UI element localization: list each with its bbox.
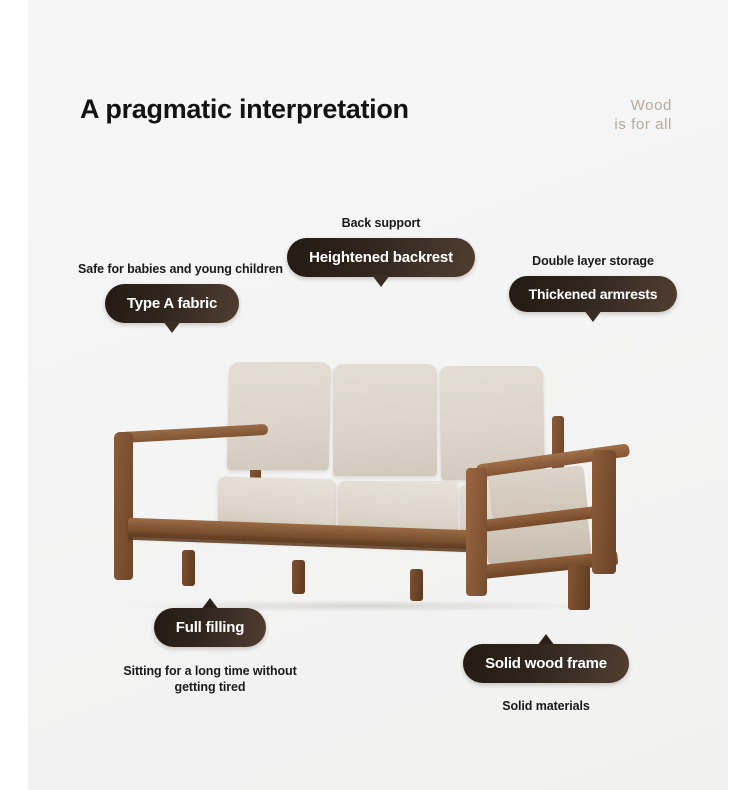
- callout-frame: Solid wood frame Solid materials: [452, 644, 640, 713]
- callout-storage-pill-wrap: Thickened armrests: [500, 276, 686, 312]
- callout-frame-caption: Solid materials: [452, 699, 640, 713]
- back-cushion-2: [333, 364, 437, 476]
- callout-filling-label[interactable]: Full filling: [154, 608, 266, 647]
- callout-storage-label[interactable]: Thickened armrests: [509, 276, 678, 312]
- right-arm-leg: [568, 566, 590, 610]
- page-title: A pragmatic interpretation: [80, 94, 409, 125]
- infographic-page: A pragmatic interpretation Wood is for a…: [0, 0, 750, 790]
- right-arm-front-post: [466, 468, 487, 596]
- callout-fabric-caption: Safe for babies and young children: [78, 262, 266, 276]
- callout-storage: Double layer storage Thickened armrests: [500, 254, 686, 312]
- callout-fabric-pointer-icon: [163, 321, 181, 333]
- callout-filling-pill-wrap: Full filling: [108, 608, 312, 647]
- callout-filling-caption: Sitting for a long time without getting …: [108, 663, 312, 695]
- callout-fabric-pill-wrap: Type A fabric: [78, 284, 266, 323]
- callout-filling: Full filling Sitting for a long time wit…: [108, 608, 312, 695]
- callout-fabric: Safe for babies and young children Type …: [78, 262, 266, 323]
- tagline-line-2: is for all: [614, 115, 672, 134]
- callout-storage-caption: Double layer storage: [500, 254, 686, 268]
- tagline-line-1: Wood: [614, 96, 672, 115]
- callout-back-support-caption: Back support: [288, 216, 474, 230]
- back-cushion-1: [227, 362, 331, 470]
- callout-back-support-label[interactable]: Heightened backrest: [287, 238, 475, 277]
- callout-back-support: Back support Heightened backrest: [288, 216, 474, 277]
- leg-3: [410, 569, 423, 601]
- callout-back-support-pill-wrap: Heightened backrest: [288, 238, 474, 277]
- leg-1: [182, 550, 195, 586]
- leg-2: [292, 560, 305, 594]
- brand-tagline: Wood is for all: [614, 96, 672, 134]
- sofa-product-image: [100, 350, 660, 610]
- right-arm-outer-post: [592, 450, 616, 574]
- callout-back-support-pointer-icon: [372, 275, 390, 287]
- callout-frame-label[interactable]: Solid wood frame: [463, 644, 629, 683]
- callout-storage-pointer-icon: [584, 310, 602, 322]
- callout-frame-pill-wrap: Solid wood frame: [452, 644, 640, 683]
- left-arm-front-post: [114, 432, 133, 580]
- callout-fabric-label[interactable]: Type A fabric: [105, 284, 239, 323]
